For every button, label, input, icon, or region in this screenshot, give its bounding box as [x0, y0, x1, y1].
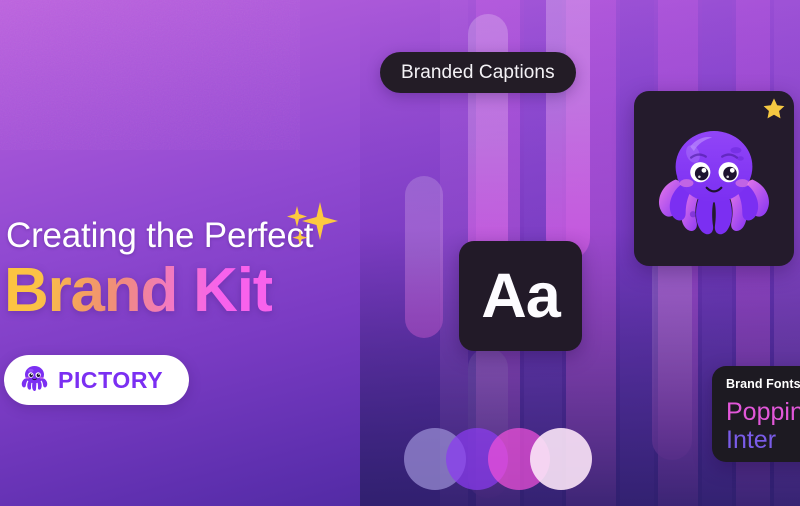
color-palette-swatches[interactable] [404, 428, 594, 498]
brand-kit-promo-graphic: Creating the Perfect Brand Kit [0, 0, 800, 506]
branded-captions-label: Branded Captions [401, 62, 555, 84]
octopus-icon [18, 361, 51, 399]
brand-fonts-label: Brand Fonts [726, 377, 800, 391]
hero-eyebrow: Creating the Perfect [6, 216, 313, 256]
octopus-mascot-icon [650, 116, 778, 249]
swatch-blush[interactable] [530, 428, 592, 490]
pictory-wordmark: PICTORY [58, 367, 163, 394]
mascot-card[interactable] [634, 91, 794, 266]
brand-font-primary: Poppins [726, 398, 800, 426]
typography-card[interactable]: Aa [459, 241, 582, 351]
sparkles-icon [278, 186, 348, 256]
page-title: Brand Kit [4, 255, 272, 326]
branded-captions-chip[interactable]: Branded Captions [380, 52, 576, 93]
brand-font-secondary: Inter [726, 426, 800, 454]
pictory-logo-badge[interactable]: PICTORY [4, 355, 189, 405]
brand-fonts-card[interactable]: Brand Fonts Poppins Inter [712, 366, 800, 462]
typography-sample: Aa [481, 265, 560, 328]
